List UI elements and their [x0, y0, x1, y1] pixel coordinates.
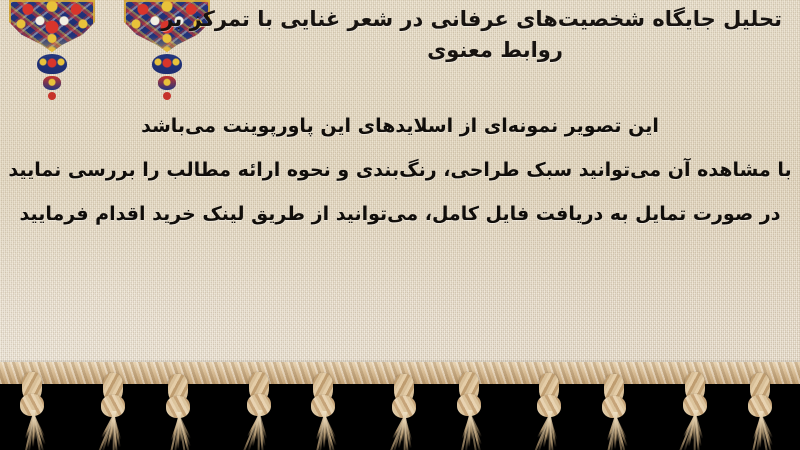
- persian-medallion-ornament-1: [9, 0, 95, 52]
- medallion-pendant-medium: [43, 76, 61, 90]
- carpet-tassel-fringe: [0, 362, 800, 450]
- medallion-gold-edge: [9, 0, 95, 52]
- slide-body-line-2: با مشاهده آن می‌توانید سبک طراحی، رنگ‌بن…: [0, 148, 800, 192]
- medallion-pendant-medium: [158, 76, 176, 90]
- slide-body-text: این تصویر نمونه‌ای از اسلایدهای این پاور…: [0, 104, 800, 236]
- slide-title-line-1: تحلیل جایگاه شخصیت‌های عرفانی در شعر غنا…: [208, 4, 782, 35]
- slide-title-line-2: روابط معنوی: [208, 35, 782, 66]
- medallion-pendant-small: [48, 92, 56, 100]
- medallion-pendant-large: [152, 54, 182, 74]
- slide-body-line-3: در صورت تمایل به دریافت فایل کامل، می‌تو…: [0, 192, 800, 236]
- medallion-pendant-large: [37, 54, 67, 74]
- slide-canvas: تحلیل جایگاه شخصیت‌های عرفانی در شعر غنا…: [0, 0, 800, 450]
- slide-body-line-1: این تصویر نمونه‌ای از اسلایدهای این پاور…: [0, 104, 800, 148]
- slide-title: تحلیل جایگاه شخصیت‌های عرفانی در شعر غنا…: [208, 4, 782, 66]
- medallion-pendant-small: [163, 92, 171, 100]
- medallion-shape: [9, 0, 95, 52]
